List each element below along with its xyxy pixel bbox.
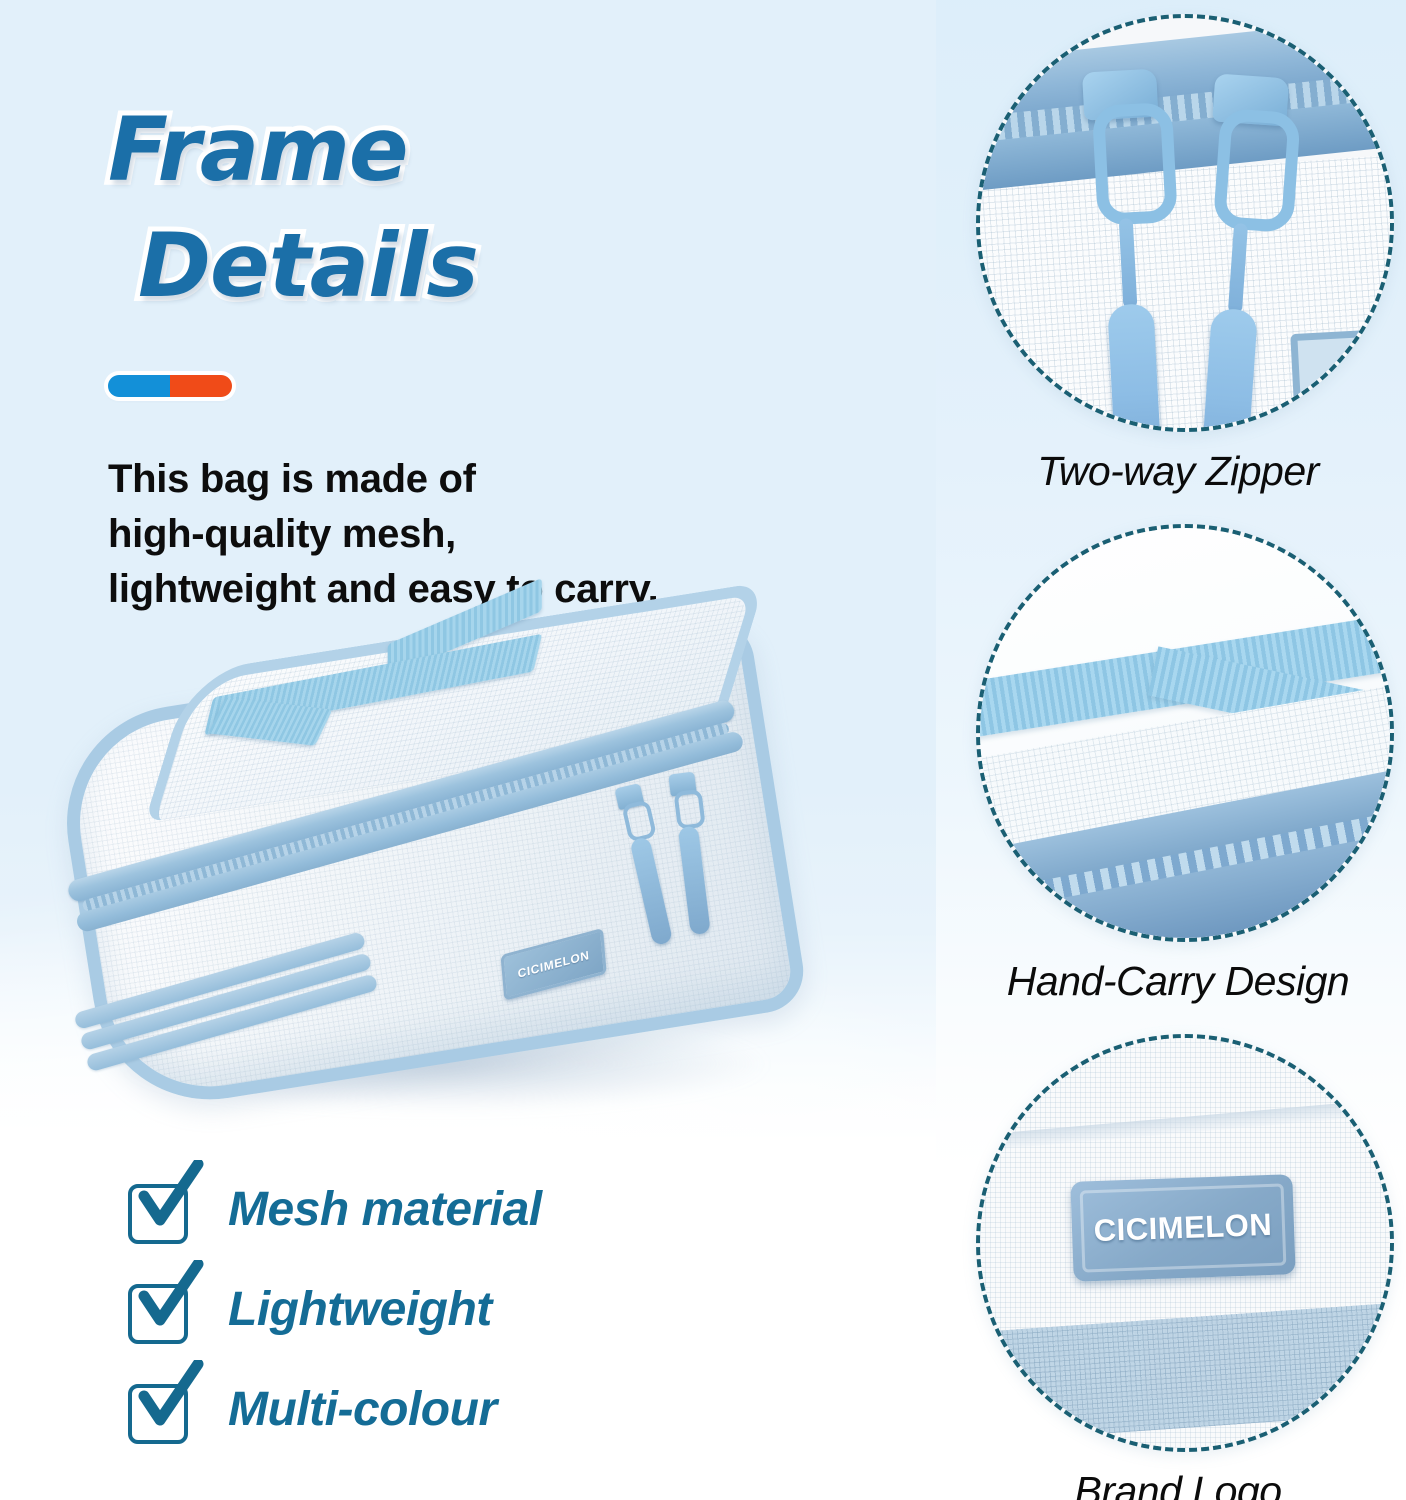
detail-callout-two-way-zipper: Two-way Zipper (950, 14, 1406, 495)
page-title-line-1: Frame (108, 92, 668, 208)
description-line-1: This bag is made of (108, 452, 808, 507)
page-title-line-2: Details (108, 208, 668, 324)
divider-segment-blue (108, 375, 170, 397)
brand-patch-detail-icon: CICIMELON (980, 1038, 1390, 1448)
product-image-mesh-pencil-case: CICIMELON (55, 600, 845, 1170)
carry-strap-detail-icon (980, 528, 1390, 938)
brand-patch-text: CICIMELON (1093, 1207, 1273, 1249)
title-divider-bar (108, 375, 232, 397)
feature-label: Mesh material (228, 1178, 542, 1242)
zipper-pull-cord (1119, 218, 1138, 309)
detail-caption: Brand Logo (950, 1468, 1406, 1500)
page-title: Frame Details (108, 92, 668, 324)
corner-brand-patch (1290, 330, 1374, 404)
brand-patch: CICIMELON (1070, 1174, 1295, 1282)
feature-label: Multi-colour (228, 1378, 497, 1442)
detail-caption: Hand-Carry Design (950, 958, 1406, 1005)
checkbox-box[interactable] (128, 1384, 188, 1444)
zipper-pull-detail-icon (980, 18, 1390, 428)
zipper-pull-cord (1228, 223, 1248, 314)
detail-caption: Two-way Zipper (950, 448, 1406, 495)
left-column: Frame Details This bag is made of high-q… (0, 0, 960, 1500)
right-column-detail-callouts: Two-way Zipper Hand-Carry Design (950, 0, 1406, 1500)
feature-item-multi-colour[interactable]: Multi-colour (128, 1378, 688, 1478)
description-line-2: high-quality mesh, (108, 507, 808, 562)
checkbox-box[interactable] (128, 1184, 188, 1244)
zipper-pull-ring (1092, 102, 1178, 226)
detail-circle-image (976, 14, 1394, 432)
detail-callout-hand-carry-design: Hand-Carry Design (950, 524, 1406, 1005)
product-brand-patch-text: CICIMELON (517, 948, 590, 981)
feature-item-mesh-material[interactable]: Mesh material (128, 1178, 688, 1278)
detail-callout-brand-logo: CICIMELON Brand Logo (950, 1034, 1406, 1500)
zipper-pull-ring (1213, 108, 1301, 233)
detail-circle-image: CICIMELON (976, 1034, 1394, 1452)
divider-segment-orange (170, 375, 232, 397)
detail-circle-image (976, 524, 1394, 942)
zipper-pull-ring (673, 789, 705, 830)
zipper-pull-tab (1107, 303, 1161, 428)
feature-label: Lightweight (228, 1278, 492, 1342)
zipper-pull-tab (1202, 308, 1258, 428)
checkbox-box[interactable] (128, 1284, 188, 1344)
feature-checklist: Mesh material Lightweight Multi-colour (128, 1178, 688, 1478)
feature-item-lightweight[interactable]: Lightweight (128, 1278, 688, 1378)
infographic-page: Frame Details This bag is made of high-q… (0, 0, 1406, 1500)
